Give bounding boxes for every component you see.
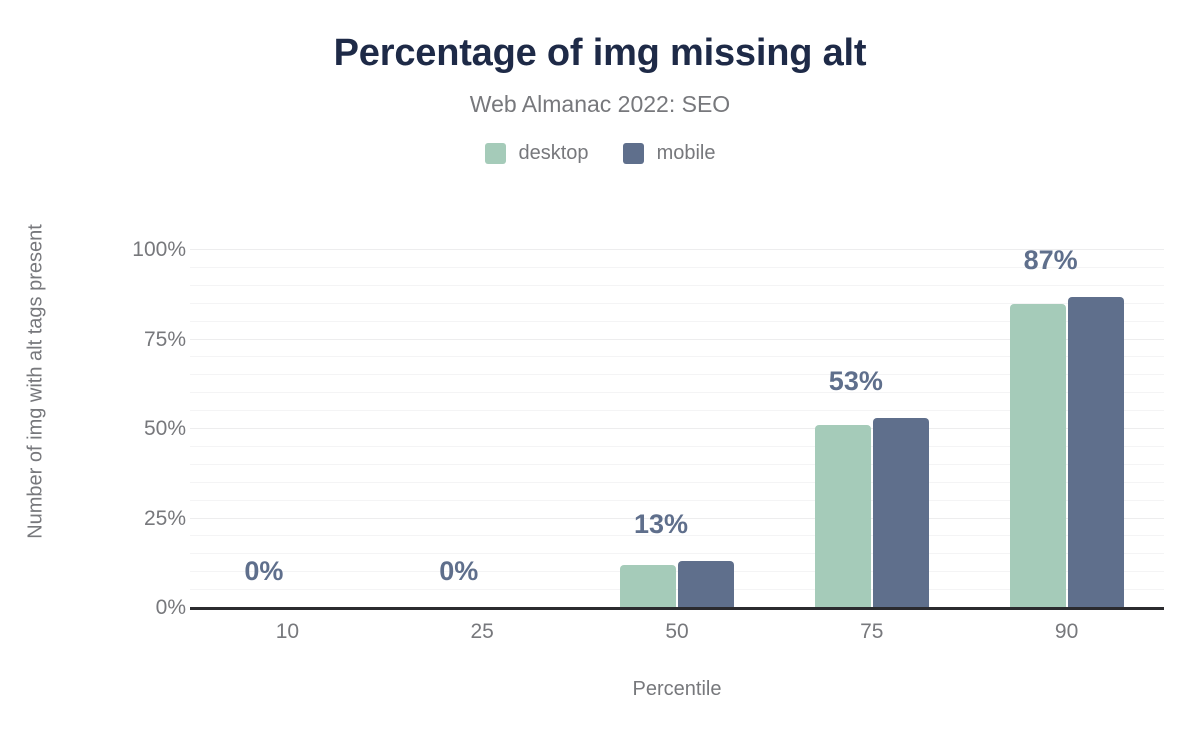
bar-group-90: 87% (1010, 250, 1124, 608)
legend-item-mobile[interactable]: mobile (623, 142, 716, 164)
bar-group-75: 53% (815, 250, 929, 608)
y-axis-tick-label: 50% (26, 418, 186, 439)
bar-desktop-75[interactable] (815, 425, 871, 608)
x-axis-tick-label-75: 75 (772, 620, 972, 644)
x-axis-tick-label-50: 50 (577, 620, 777, 644)
y-axis-title: Number of img with alt tags present (25, 82, 48, 682)
bar-value-label-10: 0% (244, 556, 283, 586)
bar-value-label-25: 0% (439, 556, 478, 586)
x-axis-title: Percentile (190, 678, 1164, 701)
bar-value-label-90: 87% (1024, 245, 1078, 275)
bar-value-label-75: 53% (829, 366, 883, 396)
y-axis-tick-label: 100% (26, 239, 186, 260)
bar-value-label-50: 13% (634, 509, 688, 539)
legend-item-label: desktop (519, 142, 589, 164)
legend-swatch-icon (623, 143, 644, 164)
x-axis-line (190, 607, 1164, 610)
bar-group-50: 13% (620, 250, 734, 608)
chart-subtitle: Web Almanac 2022: SEO (0, 89, 1200, 119)
chart-container: Percentage of img missing alt Web Almana… (0, 0, 1200, 742)
bar-desktop-50[interactable] (620, 565, 676, 608)
y-axis-tick-label: 0% (26, 597, 186, 618)
legend-swatch-icon (485, 143, 506, 164)
legend-item-label: mobile (657, 142, 716, 164)
chart-legend: desktopmobile (0, 142, 1200, 164)
bar-mobile-90[interactable] (1068, 297, 1124, 608)
x-axis-tick-label-25: 25 (382, 620, 582, 644)
bar-mobile-75[interactable] (873, 418, 929, 608)
bar-mobile-50[interactable] (678, 561, 734, 608)
x-axis-tick-label-90: 90 (967, 620, 1167, 644)
bar-group-25: 0% (425, 250, 539, 608)
plot-area: 0%0%13%53%87% (190, 250, 1164, 608)
legend-item-desktop[interactable]: desktop (485, 142, 589, 164)
x-axis-tick-label-10: 10 (187, 620, 387, 644)
bar-group-10: 0% (230, 250, 344, 608)
y-axis-tick-label: 75% (26, 329, 186, 350)
bar-desktop-90[interactable] (1010, 304, 1066, 608)
chart-title: Percentage of img missing alt (0, 30, 1200, 76)
y-axis-tick-label: 25% (26, 508, 186, 529)
